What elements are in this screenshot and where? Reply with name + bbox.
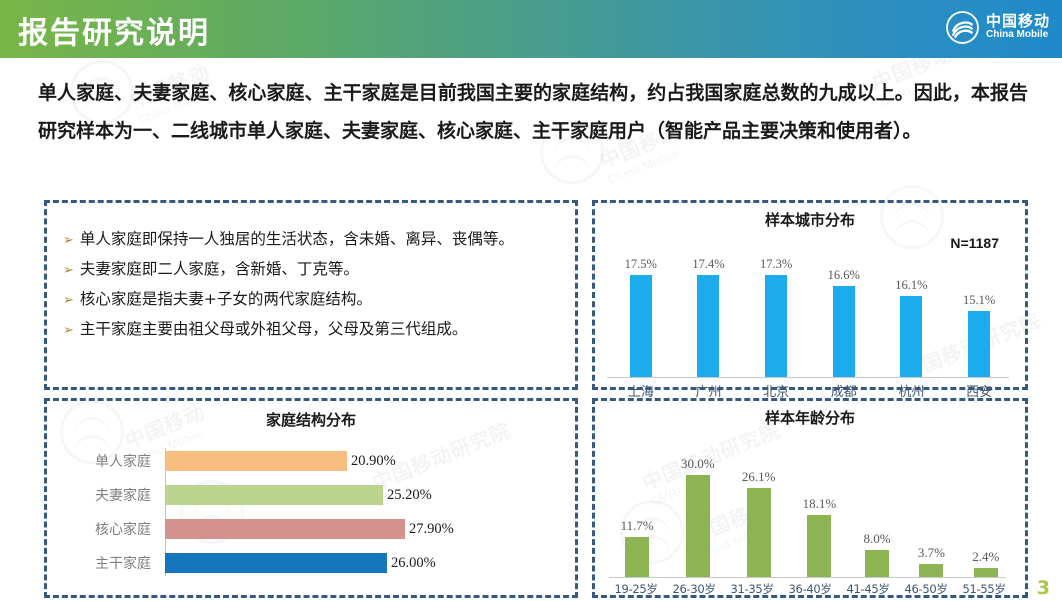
bar [165,553,387,573]
list-item-label: 主干家庭主要由祖父母或外祖父母，父母及第三代组成。 [80,315,468,343]
sample-size-label: N=1187 [950,235,999,251]
bar-value-label: 16.6% [828,268,860,283]
list-item: ➢ 夫妻家庭即二人家庭，含新婚、丁克等。 [63,255,561,285]
bar [165,485,383,505]
bar-column: 26.1% [742,447,776,577]
bar-value-label: 30.0% [681,456,715,472]
page-number: 3 [1037,577,1050,599]
bar-column: 30.0% [681,447,715,577]
bar-column: 16.6% [828,257,860,377]
definitions-list: ➢ 单人家庭即保持一人独居的生活状态，含未婚、离异、丧偶等。 ➢ 夫妻家庭即二人… [47,203,575,345]
family-structure-chart: 家庭结构分布 单人家庭20.90%夫妻家庭25.20%核心家庭27.90%主干家… [47,401,575,580]
list-item: ➢ 核心家庭是指夫妻+子女的两代家庭结构。 [63,285,561,315]
bar-value-label: 17.4% [692,257,724,272]
bar [765,275,787,377]
bar-value-label: 26.1% [742,469,776,485]
family-structure-panel: 家庭结构分布 单人家庭20.90%夫妻家庭25.20%核心家庭27.90%主干家… [44,398,578,598]
axis-tick-label: 41-45岁 [846,581,889,597]
age-axis-ticks: 19-25岁26-30岁31-35岁36-40岁41-45岁46-50岁51-5… [607,581,1013,597]
bar-value-label: 11.7% [621,518,654,534]
city-distribution-chart: 样本城市分布 N=1187 17.5%17.4%17.3%16.6%16.1%1… [595,209,1025,393]
chart-title: 样本城市分布 [595,209,1025,230]
age-distribution-panel: 样本年龄分布 11.7%30.0%26.1%18.1%8.0%3.7%2.4% … [592,398,1028,598]
page-header: 报告研究说明 中国移动 China Mobile [0,0,1062,58]
brand-name-en: China Mobile [986,30,1050,41]
bar-column: 16.1% [895,257,927,377]
age-plot-area: 11.7%30.0%26.1%18.1%8.0%3.7%2.4% [607,447,1013,577]
axis-tick-label: 36-40岁 [788,581,831,597]
bar [630,275,652,377]
bar-track: 27.90% [165,519,575,539]
brand-logo: 中国移动 China Mobile [946,11,1050,44]
city-distribution-panel: 样本城市分布 N=1187 17.5%17.4%17.3%16.6%16.1%1… [592,200,1028,390]
bar-value-label: 3.7% [918,545,945,561]
chart-title: 样本年龄分布 [595,407,1025,428]
bar-column: 15.1% [963,257,995,377]
axis-tick-label: 51-55岁 [962,581,1005,597]
bar-row: 主干家庭26.00% [47,546,575,580]
city-plot-area: 17.5%17.4%17.3%16.6%16.1%15.1% [607,257,1013,377]
bar-column: 17.5% [625,257,657,377]
bar-value-label: 26.00% [391,555,436,572]
bar-column: 8.0% [864,447,891,577]
bar [974,568,998,577]
axis-tick-label: 46-50岁 [904,581,947,597]
china-mobile-logo-icon [946,11,979,44]
bar [919,564,943,577]
chart-title: 家庭结构分布 [47,409,575,430]
list-item: ➢ 单人家庭即保持一人独居的生活状态，含未婚、离异、丧偶等。 [63,225,561,255]
brand-logo-text: 中国移动 China Mobile [986,14,1050,40]
definitions-panel: ➢ 单人家庭即保持一人独居的生活状态，含未婚、离异、丧偶等。 ➢ 夫妻家庭即二人… [44,200,578,390]
bar-category-label: 夫妻家庭 [47,485,165,505]
bar [697,275,719,377]
bar-value-label: 18.1% [803,496,837,512]
bar-track: 20.90% [165,451,575,471]
bar-track: 25.20% [165,485,575,505]
bar-row: 核心家庭27.90% [47,512,575,546]
list-item-label: 夫妻家庭即二人家庭，含新婚、丁克等。 [80,255,359,283]
bar [625,537,649,577]
bar-value-label: 2.4% [972,549,999,565]
bar-row: 夫妻家庭25.20% [47,478,575,512]
city-bars: 17.5%17.4%17.3%16.6%16.1%15.1% [607,257,1013,377]
bar-value-label: 27.90% [409,521,454,538]
bar-value-label: 25.20% [387,487,432,504]
bar-track: 26.00% [165,553,575,573]
axis-tick-label: 26-30岁 [672,581,715,597]
bar-value-label: 8.0% [864,531,891,547]
brand-name-cn: 中国移动 [986,14,1050,30]
age-bars: 11.7%30.0%26.1%18.1%8.0%3.7%2.4% [607,447,1013,577]
family-bar-rows: 单人家庭20.90%夫妻家庭25.20%核心家庭27.90%主干家庭26.00% [47,444,575,580]
bar [865,550,889,577]
bar-value-label: 15.1% [963,293,995,308]
bar-category-label: 单人家庭 [47,451,165,471]
age-distribution-chart: 样本年龄分布 11.7%30.0%26.1%18.1%8.0%3.7%2.4% … [595,407,1025,601]
bar-column: 18.1% [803,447,837,577]
x-axis-line [609,577,1005,578]
x-axis-line [607,377,1009,378]
arrow-bullet-icon: ➢ [63,287,74,315]
page-title: 报告研究说明 [18,8,210,52]
bar [807,515,831,577]
list-item-label: 核心家庭是指夫妻+子女的两代家庭结构。 [80,285,372,313]
bar-value-label: 17.5% [625,257,657,272]
bar-column: 2.4% [972,447,999,577]
intro-paragraph: 单人家庭、夫妻家庭、核心家庭、主干家庭是目前我国主要的家庭结构，约占我国家庭总数… [38,74,1028,150]
slide: 中国移动China Mobile 中国移动China Mobile 中国移动研究… [0,0,1062,601]
bar-value-label: 16.1% [895,278,927,293]
list-item: ➢ 主干家庭主要由祖父母或外祖父母，父母及第三代组成。 [63,315,561,345]
bar-value-label: 17.3% [760,257,792,272]
bar-column: 3.7% [918,447,945,577]
bar [165,519,405,539]
bar [747,488,771,577]
bar [686,475,710,577]
bar [900,296,922,377]
bar-category-label: 主干家庭 [47,553,165,573]
bar-value-label: 20.90% [351,453,396,470]
arrow-bullet-icon: ➢ [63,317,74,345]
arrow-bullet-icon: ➢ [63,227,74,255]
arrow-bullet-icon: ➢ [63,257,74,285]
axis-tick-label: 19-25岁 [614,581,657,597]
bar-column: 17.4% [692,257,724,377]
bar [833,286,855,377]
axis-tick-label: 31-35岁 [730,581,773,597]
bar [968,311,990,377]
bar-category-label: 核心家庭 [47,519,165,539]
bar-column: 17.3% [760,257,792,377]
bar-column: 11.7% [621,447,654,577]
bar-row: 单人家庭20.90% [47,444,575,478]
bar [165,451,347,471]
list-item-label: 单人家庭即保持一人独居的生活状态，含未婚、离异、丧偶等。 [80,225,514,253]
